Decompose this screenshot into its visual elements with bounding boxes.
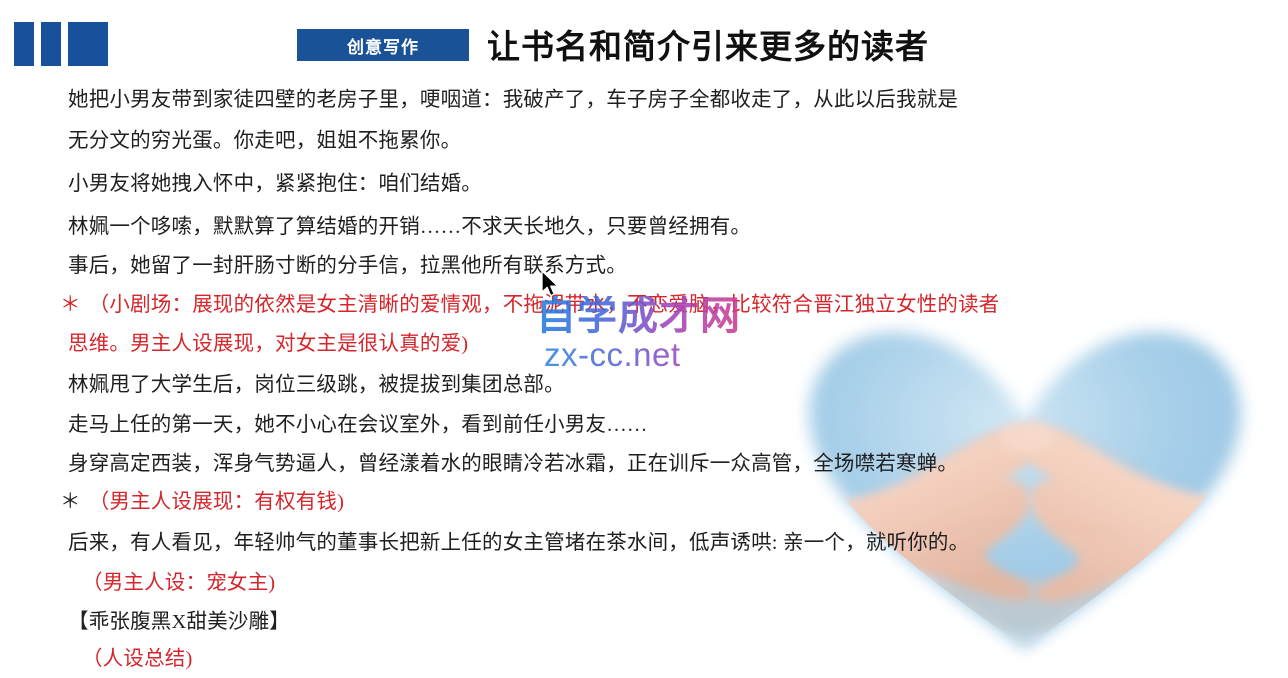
- body-line-accent: （男主人设：宠女主): [74, 565, 275, 595]
- hands-forming-heart-image: [790, 318, 1260, 673]
- body-line: 小男友将她拽入怀中，紧紧抱住：咱们结婚。: [60, 166, 482, 196]
- slide-header: 创意写作 让书名和简介引来更多的读者: [0, 0, 1288, 78]
- body-line: 无分文的穷光蛋。你走吧，姐姐不拖累你。: [60, 123, 461, 153]
- bullet-star: ＊: [60, 294, 89, 316]
- bullet-star: [60, 374, 68, 396]
- body-line: 事后，她留了一封肝肠寸断的分手信，拉黑他所有联系方式。: [60, 248, 627, 278]
- bullet-star: [60, 611, 68, 633]
- body-line-accent: ＊（小剧场：展现的依然是女主清晰的爱情观，不拖泥带水，不恋爱脑，比较符合晋江独立…: [60, 287, 1000, 317]
- body-line: 林姵甩了大学生后，岗位三级跳，被提拔到集团总部。: [60, 367, 565, 397]
- body-line: 【乖张腹黑X甜美沙雕】: [60, 604, 290, 634]
- body-line-accent: ＊（男主人设展现：有权有钱): [60, 484, 344, 514]
- bullet-star: [74, 648, 82, 670]
- body-line: 走马上任的第一天，她不小心在会议室外，看到前任小男友……: [60, 407, 648, 437]
- bullet-star: [60, 333, 68, 355]
- logo-bar-1: [14, 22, 34, 66]
- bullet-star: [60, 130, 68, 152]
- bullet-star: [74, 572, 82, 594]
- brand-logo: [14, 22, 108, 66]
- bullet-star: [60, 414, 68, 436]
- bullet-star: [60, 453, 68, 475]
- logo-bar-3: [68, 22, 108, 66]
- bullet-star: [60, 89, 68, 111]
- body-line: 后来，有人看见，年轻帅气的董事长把新上任的女主管堵在茶水间，低声诱哄: 亲一个，…: [60, 525, 969, 555]
- bullet-star: [60, 216, 68, 238]
- logo-bar-2: [41, 22, 61, 66]
- body-line: 林姵一个哆嗦，默默算了算结婚的开销……不求天长地久，只要曾经拥有。: [60, 209, 751, 239]
- body-line-accent: （人设总结): [74, 641, 193, 671]
- bullet-star: [60, 173, 68, 195]
- bullet-star: ＊: [60, 491, 89, 513]
- body-line: 身穿高定西装，浑身气势逼人，曾经漾着水的眼睛冷若冰霜，正在训斥一众高管，全场噤若…: [60, 446, 958, 476]
- bullet-star: [60, 255, 68, 277]
- watermark-site-url: zx-cc.net: [544, 338, 741, 371]
- category-badge: 创意写作: [297, 29, 469, 61]
- body-line: 她把小男友带到家徒四壁的老房子里，哽咽道：我破产了，车子房子全都收走了，从此以后…: [60, 82, 958, 112]
- page-title: 让书名和简介引来更多的读者: [487, 20, 929, 68]
- body-line-accent: 思维。男主人设展现，对女主是很认真的爱): [60, 326, 468, 356]
- bullet-star: [60, 532, 68, 554]
